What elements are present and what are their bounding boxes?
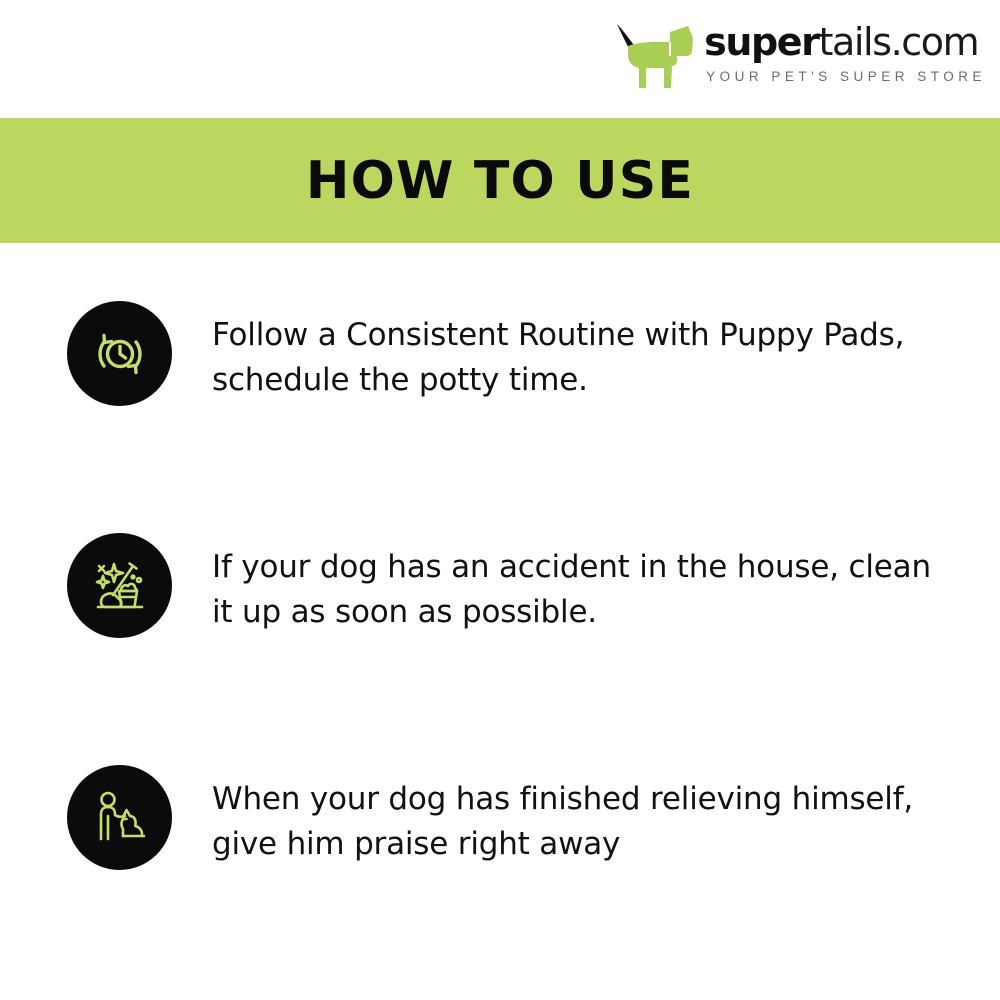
brand-text: supertails.com YOUR PET'S SUPER STORE: [704, 18, 986, 84]
page-header: supertails.com YOUR PET'S SUPER STORE: [0, 0, 1000, 118]
list-item: If your dog has an accident in the house…: [0, 533, 1000, 638]
step-text: Follow a Consistent Routine with Puppy P…: [212, 313, 1000, 403]
dog-silhouette-icon: [614, 20, 700, 92]
page-title: HOW TO USE: [306, 151, 694, 211]
step-icon-badge: [67, 765, 172, 870]
brand-name-light: tails.com: [819, 20, 979, 64]
steps-list: Follow a Consistent Routine with Puppy P…: [0, 243, 1000, 1000]
step-text: When your dog has finished relieving him…: [212, 777, 1000, 867]
brand-wordmark: supertails.com: [704, 20, 978, 64]
mop-bucket-sparkle-icon: [88, 554, 152, 618]
step-text: If your dog has an accident in the house…: [212, 545, 1000, 635]
list-item: Follow a Consistent Routine with Puppy P…: [0, 301, 1000, 406]
person-praising-dog-icon: [88, 786, 152, 850]
section-banner: HOW TO USE: [0, 118, 1000, 243]
brand-name-bold: super: [704, 20, 818, 64]
list-item: When your dog has finished relieving him…: [0, 765, 1000, 870]
brand-tagline: YOUR PET'S SUPER STORE: [704, 69, 986, 84]
step-icon-badge: [67, 533, 172, 638]
brand-logo[interactable]: supertails.com YOUR PET'S SUPER STORE: [614, 18, 986, 92]
step-icon-badge: [67, 301, 172, 406]
routine-clock-arrows-icon: [88, 322, 152, 386]
